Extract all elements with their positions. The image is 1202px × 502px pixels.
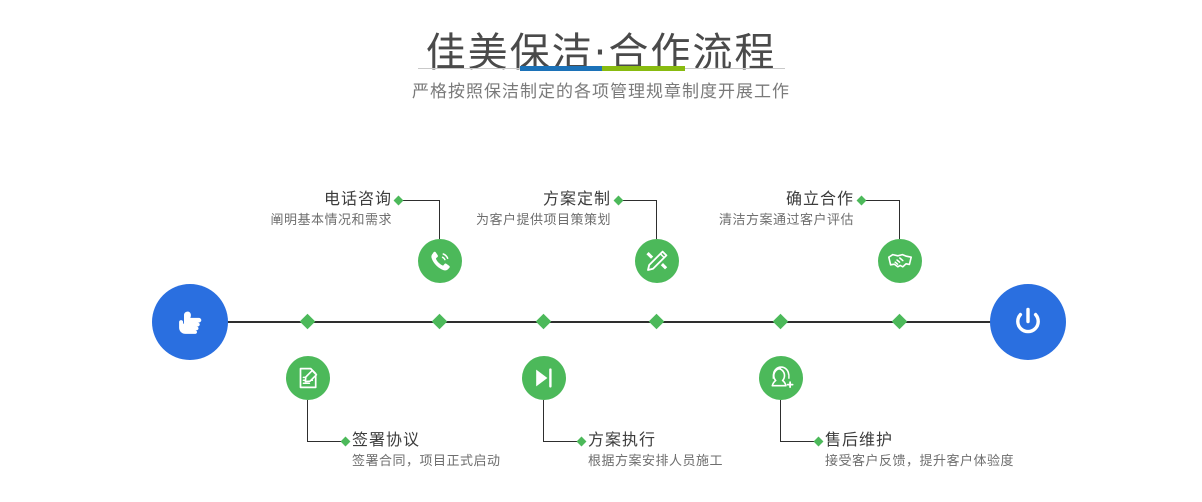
connector-tip-1: [394, 196, 404, 206]
axis-marker-3: [649, 314, 665, 330]
step-node-4[interactable]: [522, 356, 566, 400]
connector-stem-1-vertical: [439, 200, 440, 239]
step-label-1: 电话咨询 阐明基本情况和需求: [270, 188, 392, 231]
sign-document-icon: [295, 365, 321, 391]
title-divider: [418, 66, 785, 71]
play-execute-icon: [531, 365, 557, 391]
connector-stem-4-vertical: [543, 400, 544, 441]
connector-stem-2-vertical: [307, 400, 308, 441]
connector-tip-3: [614, 196, 624, 206]
step-node-3[interactable]: [635, 239, 679, 283]
step-title-5: 确立合作: [719, 188, 854, 210]
phone-call-icon: [427, 248, 453, 274]
connector-tip-4: [577, 437, 587, 447]
axis-marker-6: [773, 314, 789, 330]
axis-marker-4: [536, 314, 552, 330]
connector-stem-6-vertical: [780, 400, 781, 441]
page-subtitle: 严格按照保洁制定的各项管理规章制度开展工作: [0, 80, 1202, 104]
connector-tip-5: [857, 196, 867, 206]
timeline-axis: [160, 321, 1042, 323]
connector-stem-1-horizontal: [398, 200, 439, 201]
power-icon: [1008, 302, 1048, 342]
timeline-start-node: [152, 284, 228, 360]
step-title-1: 电话咨询: [270, 188, 392, 210]
step-desc-2: 签署合同，项目正式启动: [352, 451, 501, 472]
step-node-1[interactable]: [418, 239, 462, 283]
step-node-2[interactable]: [286, 356, 330, 400]
handshake-icon: [887, 248, 913, 274]
pencil-ruler-icon: [644, 248, 670, 274]
connector-tip-6: [814, 437, 824, 447]
axis-marker-2: [300, 314, 316, 330]
step-desc-1: 阐明基本情况和需求: [270, 210, 392, 231]
step-desc-4: 根据方案安排人员施工: [588, 451, 723, 472]
hand-pointing-icon: [170, 302, 210, 342]
axis-marker-1: [432, 314, 448, 330]
step-label-4: 方案执行 根据方案安排人员施工: [588, 429, 723, 472]
divider-green-segment: [602, 66, 685, 71]
divider-blue-segment: [520, 66, 602, 71]
step-title-3: 方案定制: [476, 188, 611, 210]
step-node-6[interactable]: [759, 356, 803, 400]
connector-stem-5-vertical: [899, 200, 900, 239]
step-desc-6: 接受客户反馈，提升客户体验度: [825, 451, 1014, 472]
connector-stem-3-vertical: [656, 200, 657, 239]
connector-tip-2: [341, 437, 351, 447]
step-node-5[interactable]: [878, 239, 922, 283]
flowchart-page: 佳美保洁·合作流程 严格按照保洁制定的各项管理规章制度开展工作: [0, 0, 1202, 502]
step-label-2: 签署协议 签署合同，项目正式启动: [352, 429, 501, 472]
axis-marker-5: [892, 314, 908, 330]
step-label-6: 售后维护 接受客户反馈，提升客户体验度: [825, 429, 1014, 472]
timeline-end-node: [990, 284, 1066, 360]
step-title-6: 售后维护: [825, 429, 1014, 451]
step-desc-3: 为客户提供项目策策划: [476, 210, 611, 231]
step-label-5: 确立合作 清洁方案通过客户评估: [719, 188, 854, 231]
step-label-3: 方案定制 为客户提供项目策策划: [476, 188, 611, 231]
step-desc-5: 清洁方案通过客户评估: [719, 210, 854, 231]
step-title-4: 方案执行: [588, 429, 723, 451]
customer-support-add-icon: [768, 365, 794, 391]
step-title-2: 签署协议: [352, 429, 501, 451]
